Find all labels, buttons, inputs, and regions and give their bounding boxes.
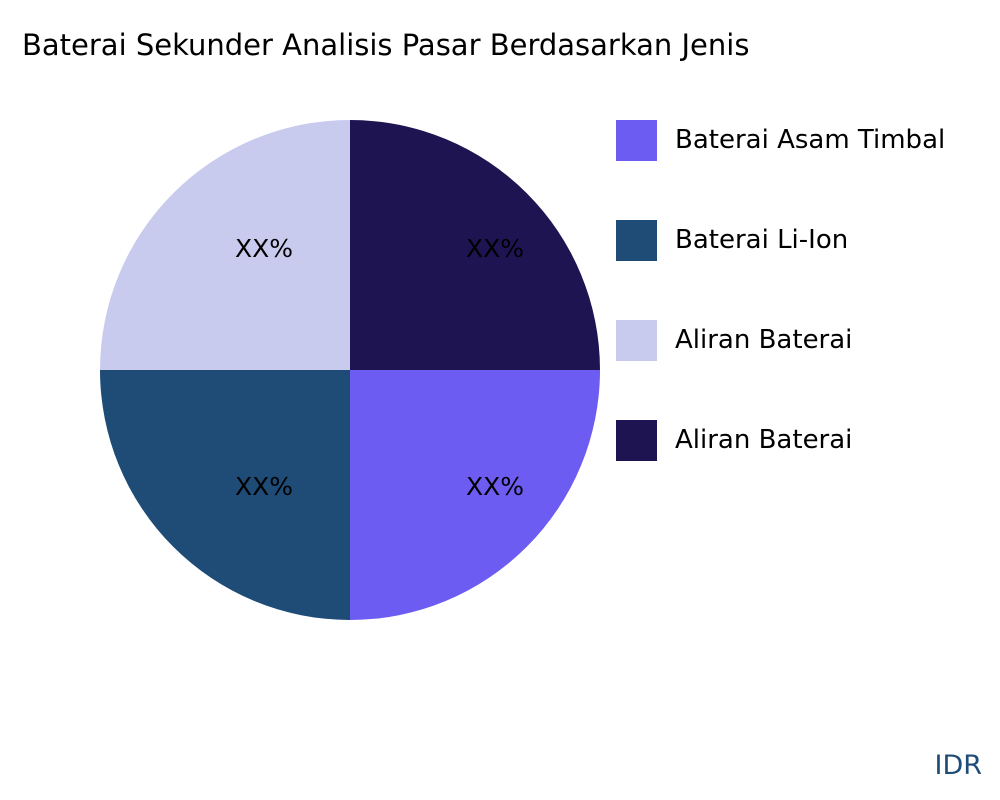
pie-chart-plot-area: XX% XX% XX% XX% — [100, 120, 600, 620]
pie-slice-label-bottom-left: XX% — [235, 472, 293, 501]
legend-item-label-2: Aliran Baterai — [675, 318, 852, 362]
chart-legend: Baterai Asam Timbal Baterai Li-Ion Alira… — [616, 120, 1000, 520]
pie-chart-svg: XX% XX% XX% XX% — [100, 120, 600, 620]
chart-title: Baterai Sekunder Analisis Pasar Berdasar… — [22, 26, 749, 64]
pie-chart-figure: Baterai Sekunder Analisis Pasar Berdasar… — [0, 0, 1000, 800]
legend-item-label-0: Baterai Asam Timbal — [675, 118, 945, 162]
legend-color-swatch-icon-1 — [616, 220, 657, 261]
legend-item-0[interactable]: Baterai Asam Timbal — [616, 120, 1000, 220]
pie-slice-label-top-left: XX% — [235, 234, 293, 263]
legend-item-label-3: Aliran Baterai — [675, 418, 852, 462]
legend-color-swatch-icon-0 — [616, 120, 657, 161]
pie-slice-bottom-left[interactable] — [100, 370, 350, 620]
legend-color-swatch-icon-2 — [616, 320, 657, 361]
currency-unit-label: IDR — [934, 750, 982, 782]
legend-item-1[interactable]: Baterai Li-Ion — [616, 220, 1000, 320]
legend-item-2[interactable]: Aliran Baterai — [616, 320, 1000, 420]
pie-slice-label-bottom-right: XX% — [466, 472, 524, 501]
legend-item-label-1: Baterai Li-Ion — [675, 218, 848, 262]
legend-item-3[interactable]: Aliran Baterai — [616, 420, 1000, 520]
pie-slice-top-left[interactable] — [100, 120, 350, 370]
pie-slice-label-top-right: XX% — [466, 234, 524, 263]
legend-color-swatch-icon-3 — [616, 420, 657, 461]
